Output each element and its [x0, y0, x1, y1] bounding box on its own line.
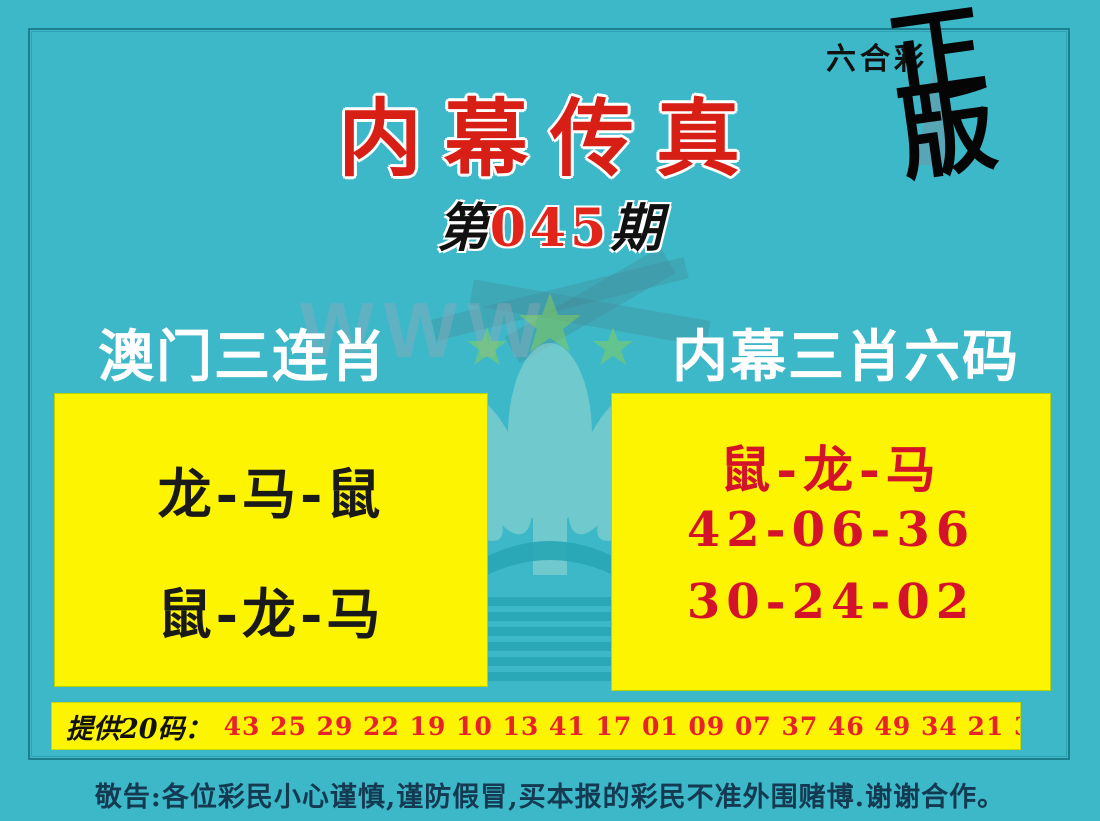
numbers-strip-label: 提供20码： [66, 707, 212, 746]
prediction-line: 42-06-36 [612, 502, 1050, 558]
prediction-line: 30-24-02 [612, 574, 1050, 630]
section-heading-right: 内幕三肖六码 [672, 312, 1020, 393]
watermark-band [431, 257, 689, 341]
prediction-line: 鼠-龙-马 [612, 430, 1050, 502]
numbers-strip: 提供20码： 43 25 29 22 19 10 13 41 17 01 09 … [52, 703, 1020, 749]
lottery-poster: WWW [0, 0, 1100, 821]
issue-prefix: 第 [437, 198, 490, 259]
section-heading-left: 澳门三连肖 [98, 312, 388, 393]
issue-line: 第045期 [0, 186, 1100, 261]
prediction-panel-left: 龙-马-鼠 鼠-龙-马 [55, 394, 487, 686]
prediction-line: 龙-马-鼠 [55, 450, 487, 529]
watermark-band [505, 247, 676, 363]
page-title: 内幕传真 [0, 72, 1100, 193]
issue-number: 045 [490, 198, 611, 259]
issue-suffix: 期 [610, 198, 663, 259]
footer-notice: 敬告:各位彩民小心谨慎,谨防假冒,买本报的彩民不准外围赌博.谢谢合作。 [0, 775, 1100, 814]
numbers-strip-values: 43 25 29 22 19 10 13 41 17 01 09 07 37 4… [224, 712, 1020, 741]
prediction-line: 鼠-龙-马 [55, 570, 487, 649]
prediction-panel-right: 鼠-龙-马 42-06-36 30-24-02 [612, 394, 1050, 690]
